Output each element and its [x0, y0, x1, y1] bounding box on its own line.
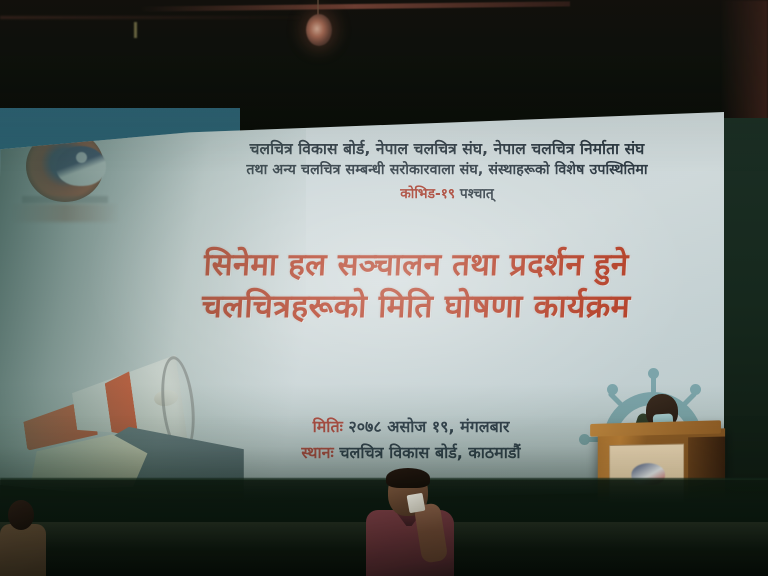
- organizer-line-3: कोभिड-१९ पश्चात्: [182, 184, 712, 204]
- organizer-line-1: चलचित्र विकास बोर्ड, नेपाल चलचित्र संघ, …: [182, 138, 712, 160]
- person-left-edge: [0, 500, 46, 576]
- emblem-caption-lower: [10, 204, 120, 222]
- covid-highlight: कोभिड-१९: [400, 186, 455, 202]
- speaker-in-maroon-shirt: [352, 470, 468, 576]
- organizer-line-2: तथा अन्य चलचित्र सम्बन्धी सरोकारवाला संघ…: [182, 160, 712, 181]
- venue-line: स्थानः चलचित्र विकास बोर्ड, काठमाडौं: [176, 440, 646, 466]
- ceiling-beam-secondary: [0, 16, 300, 19]
- slide-title: सिनेमा हल सञ्चालन तथा प्रदर्शन हुने चलचि…: [116, 246, 716, 327]
- left-person-head: [8, 500, 34, 530]
- title-line-2: चलचित्रहरूको मिति घोषणा कार्यक्रम: [115, 286, 717, 327]
- slide-details: मितिः २०७८ असोज १९, मंगलबार स्थानः चलचित…: [176, 414, 646, 465]
- event-photo-scene: चलचित्र विकास बोर्ड, नेपाल चलचित्र संघ, …: [0, 0, 768, 576]
- podium-top-surface: [590, 420, 721, 436]
- date-value: २०७८ असोज १९, मंगलबार: [343, 417, 510, 436]
- date-label: मितिः: [313, 417, 343, 436]
- date-line: मितिः २०७८ असोज १९, मंगलबार: [176, 414, 646, 440]
- venue-value: चलचित्र विकास बोर्ड, काठमाडौं: [334, 443, 521, 462]
- ceiling-highlight: [134, 22, 137, 38]
- venue-label: स्थानः: [301, 443, 333, 462]
- emblem-sun-icon: [76, 152, 87, 163]
- ceiling-light-icon: [306, 14, 332, 46]
- phone-icon: [407, 493, 426, 514]
- megaphone-icon: [4, 348, 234, 498]
- title-line-1: सिनेमा हल सञ्चालन तथा प्रदर्शन हुने: [115, 246, 717, 286]
- covid-suffix: पश्चात्: [455, 186, 494, 202]
- emblem-caption-upper: [22, 196, 108, 203]
- ceiling-beam: [140, 1, 570, 11]
- organizer-lines: चलचित्र विकास बोर्ड, नेपाल चलचित्र संघ, …: [182, 138, 712, 204]
- left-person-body: [0, 524, 46, 576]
- speaker-hair: [386, 468, 430, 488]
